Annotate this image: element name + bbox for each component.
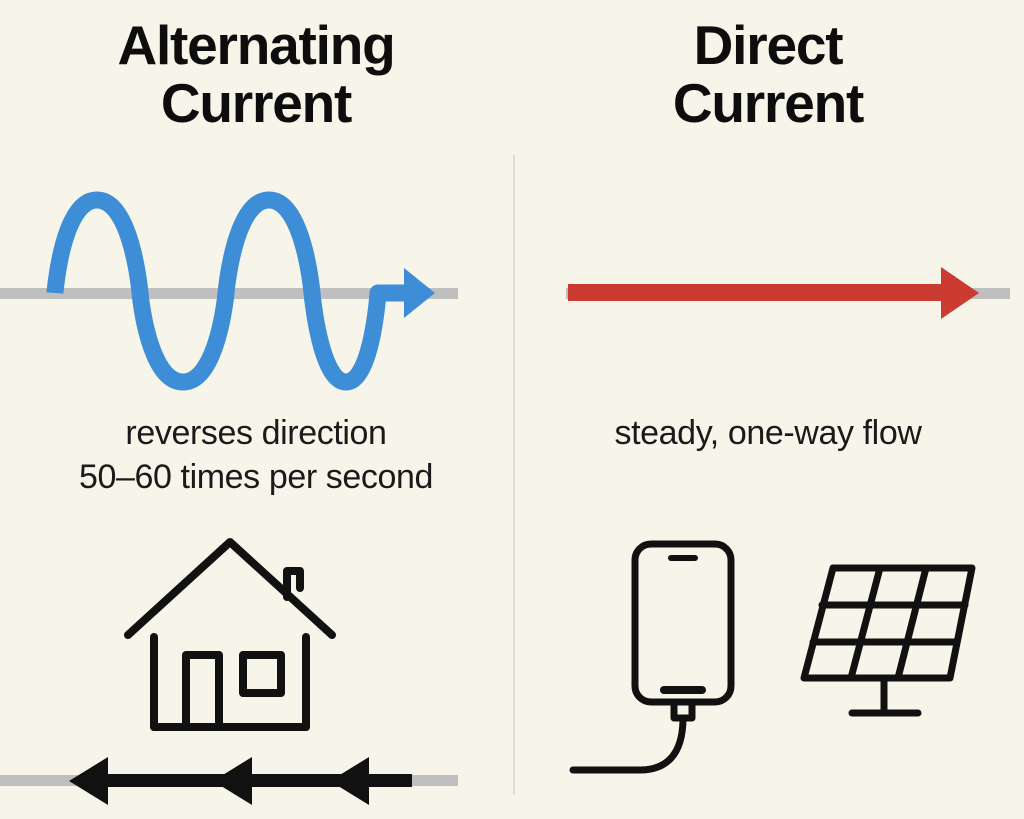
ac-caption: reverses direction 50–60 times per secon… [0, 412, 512, 499]
dc-title-line2: Current [512, 74, 1024, 132]
panel-alternating-current: Alternating Current reverses direction 5… [0, 0, 512, 819]
ac-caption-line1: reverses direction [125, 414, 386, 452]
dc-caption: steady, one-way flow [512, 412, 1024, 456]
ac-dc-comparison-infographic: Alternating Current reverses direction 5… [0, 0, 1024, 819]
dc-title: Direct Current [512, 16, 1024, 133]
panel-direct-current: Direct Current steady, one-way flow [512, 0, 1024, 819]
vertical-divider [513, 155, 515, 795]
ac-title-line1: Alternating [117, 14, 394, 76]
ac-caption-line2: 50–60 times per second [79, 458, 433, 496]
ac-title-line2: Current [0, 74, 512, 132]
ac-title: Alternating Current [0, 16, 512, 133]
dc-caption-line1: steady, one-way flow [615, 414, 922, 452]
dc-title-line1: Direct [694, 14, 843, 76]
